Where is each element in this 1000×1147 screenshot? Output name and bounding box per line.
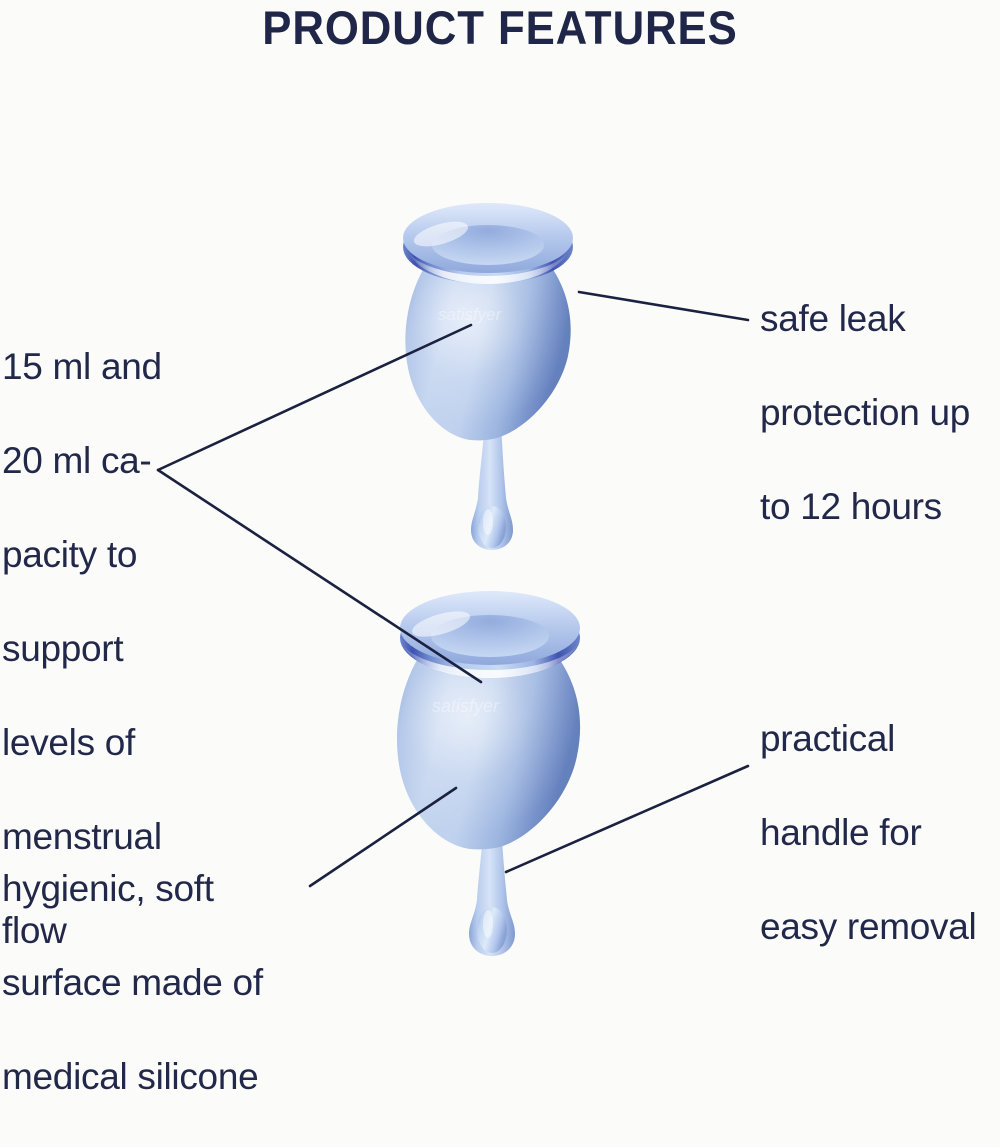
callout-capacity-line-3: pacity to	[2, 531, 202, 578]
cup-small-body-sheen	[405, 268, 570, 440]
callout-handle-line-1: practical	[760, 715, 1000, 762]
callout-capacity-line-4: support	[2, 625, 202, 672]
product-cup-large: satisfyer	[397, 591, 580, 956]
callout-handle-line-2: handle for	[760, 809, 1000, 856]
cup-large-emboss: satisfyer	[432, 696, 500, 716]
cup-large-stem-highlight	[483, 910, 493, 938]
cup-small-emboss: satisfyer	[438, 305, 503, 324]
cup-large-body-sheen	[397, 660, 580, 849]
callout-capacity-line-5: levels of	[2, 719, 202, 766]
callout-leak-line-2: protection up	[760, 389, 1000, 436]
cup-small-stem-highlight	[483, 509, 493, 535]
callout-leak-protection: safe leak protection up to 12 hours	[760, 248, 1000, 577]
callout-capacity-line-1: 15 ml and	[2, 343, 202, 390]
product-cup-small: satisfyer	[403, 203, 573, 550]
callout-hygienic-surface: hygienic, soft surface made of medical s…	[2, 818, 322, 1147]
callout-leak-line-3: to 12 hours	[760, 483, 1000, 530]
callout-handle-line-3: easy removal	[760, 903, 1000, 950]
callout-hygienic-line-2: surface made of	[2, 959, 322, 1006]
callout-practical-handle: practical handle for easy removal	[760, 668, 1000, 997]
callout-hygienic-line-3: medical silicone	[2, 1053, 322, 1100]
callout-hygienic-line-1: hygienic, soft	[2, 865, 322, 912]
callout-capacity-line-2: 20 ml ca-	[2, 437, 202, 484]
infographic-canvas: PRODUCT FEATURES	[0, 0, 1000, 1000]
callout-leak-line-1: safe leak	[760, 295, 1000, 342]
